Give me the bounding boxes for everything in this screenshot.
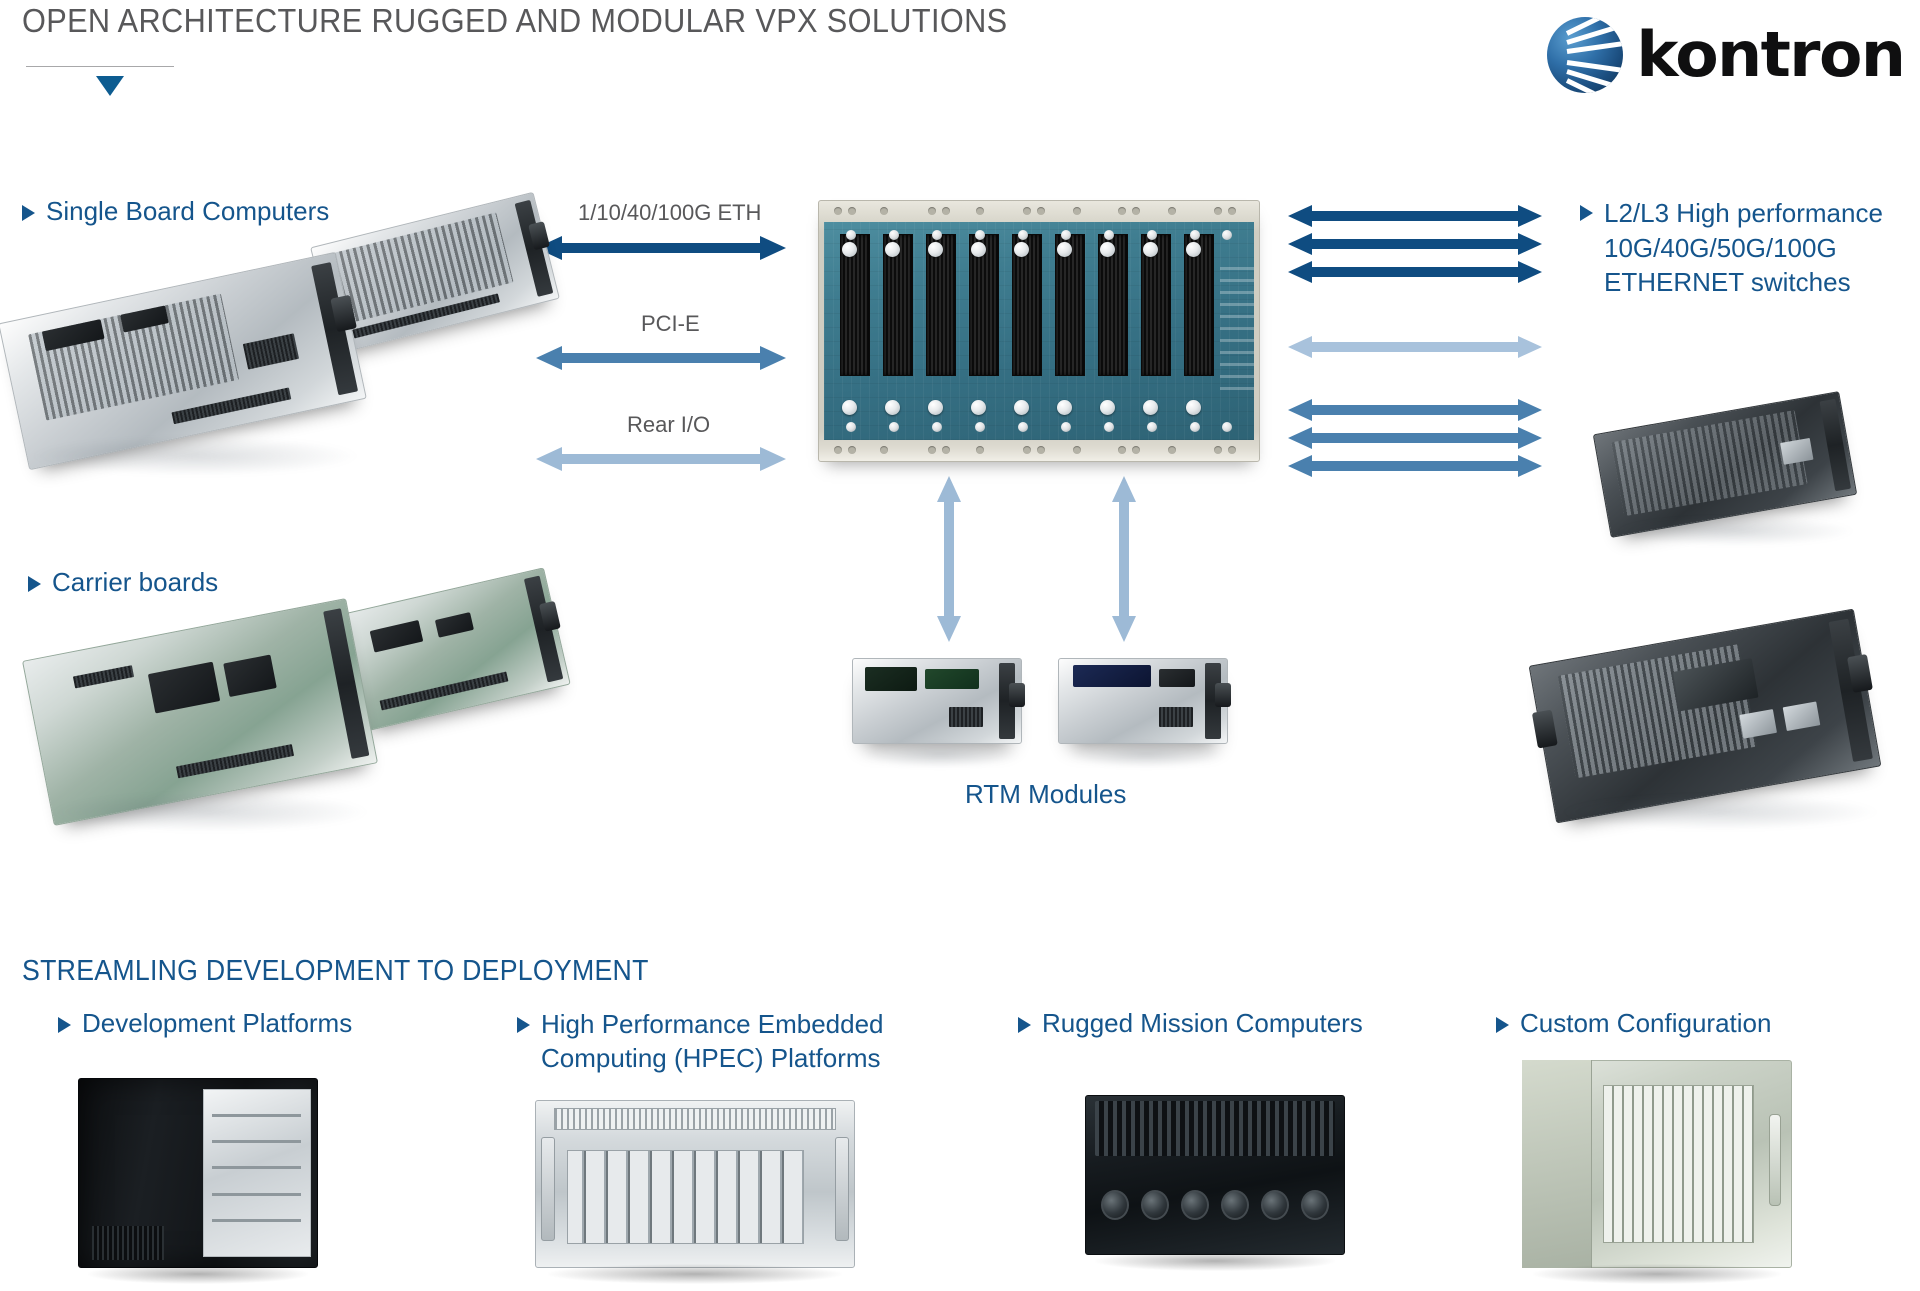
kontron-logo: kontron — [1547, 16, 1902, 94]
arrow-rear-io-link — [536, 446, 786, 472]
label-ethernet-switches: L2/L3 High performance 10G/40G/50G/100G … — [1580, 196, 1883, 300]
bullet-triangle-icon — [1018, 1017, 1031, 1033]
caption-pcie-link: PCI-E — [641, 311, 700, 337]
label-hpec-platforms: High Performance Embedded Computing (HPE… — [517, 1008, 884, 1076]
bullet-triangle-icon — [1496, 1017, 1509, 1033]
chevron-down-icon — [96, 76, 124, 96]
image-rtm-module-right — [1058, 658, 1228, 744]
arrow-right-link-1 — [1288, 204, 1542, 228]
arrow-right-link-6 — [1288, 426, 1542, 450]
label-custom-configuration: Custom Configuration — [1496, 1008, 1771, 1039]
title-divider — [26, 66, 174, 67]
shadow-switch-bottom — [1560, 794, 1880, 830]
image-development-platforms — [78, 1078, 318, 1268]
image-switch-module-bottom — [1529, 609, 1882, 824]
image-custom-configuration — [1522, 1060, 1792, 1268]
shadow-sbc-large — [30, 436, 360, 476]
arrow-right-link-5 — [1288, 398, 1542, 422]
section-heading: STREAMLING DEVELOPMENT TO DEPLOYMENT — [22, 955, 649, 988]
image-hpec-platforms — [535, 1100, 855, 1268]
arrow-rtm-link-right — [1111, 476, 1137, 642]
shadow-rtm-left — [860, 742, 1020, 768]
label-development-platforms: Development Platforms — [58, 1008, 352, 1039]
arrow-right-link-2 — [1288, 232, 1542, 256]
label-carrier-boards: Carrier boards — [28, 567, 218, 598]
label-rugged-mission-computers: Rugged Mission Computers — [1018, 1008, 1363, 1039]
image-carrier-board-small — [334, 567, 570, 732]
caption-rtm-modules: RTM Modules — [965, 779, 1126, 810]
arrow-right-link-3 — [1288, 260, 1542, 284]
bullet-triangle-icon — [517, 1017, 530, 1033]
caption-eth-link: 1/10/40/100G ETH — [578, 200, 761, 226]
arrow-eth-link — [536, 235, 786, 261]
label-single-board-computers: Single Board Computers — [22, 196, 329, 227]
page-title: OPEN ARCHITECTURE RUGGED AND MODULAR VPX… — [22, 2, 1007, 40]
image-vpx-backplane — [818, 200, 1260, 462]
caption-rear-io-link: Rear I/O — [627, 412, 710, 438]
arrow-rtm-link-left — [936, 476, 962, 642]
arrow-pcie-link — [536, 345, 786, 371]
bullet-triangle-icon — [58, 1017, 71, 1033]
shadow-rtm-right — [1066, 742, 1226, 768]
shadow-carrier-large — [50, 792, 370, 832]
image-rtm-module-left — [852, 658, 1022, 744]
image-rugged-mission-computers — [1085, 1095, 1345, 1255]
arrow-right-link-4 — [1288, 335, 1542, 359]
kontron-globe-logo — [1547, 17, 1623, 93]
shadow-switch-top — [1615, 516, 1855, 546]
arrow-right-link-7 — [1288, 454, 1542, 478]
bullet-triangle-icon — [28, 576, 41, 592]
bullet-triangle-icon — [1580, 205, 1593, 221]
kontron-wordmark: kontron — [1637, 24, 1905, 86]
bullet-triangle-icon — [22, 205, 35, 221]
